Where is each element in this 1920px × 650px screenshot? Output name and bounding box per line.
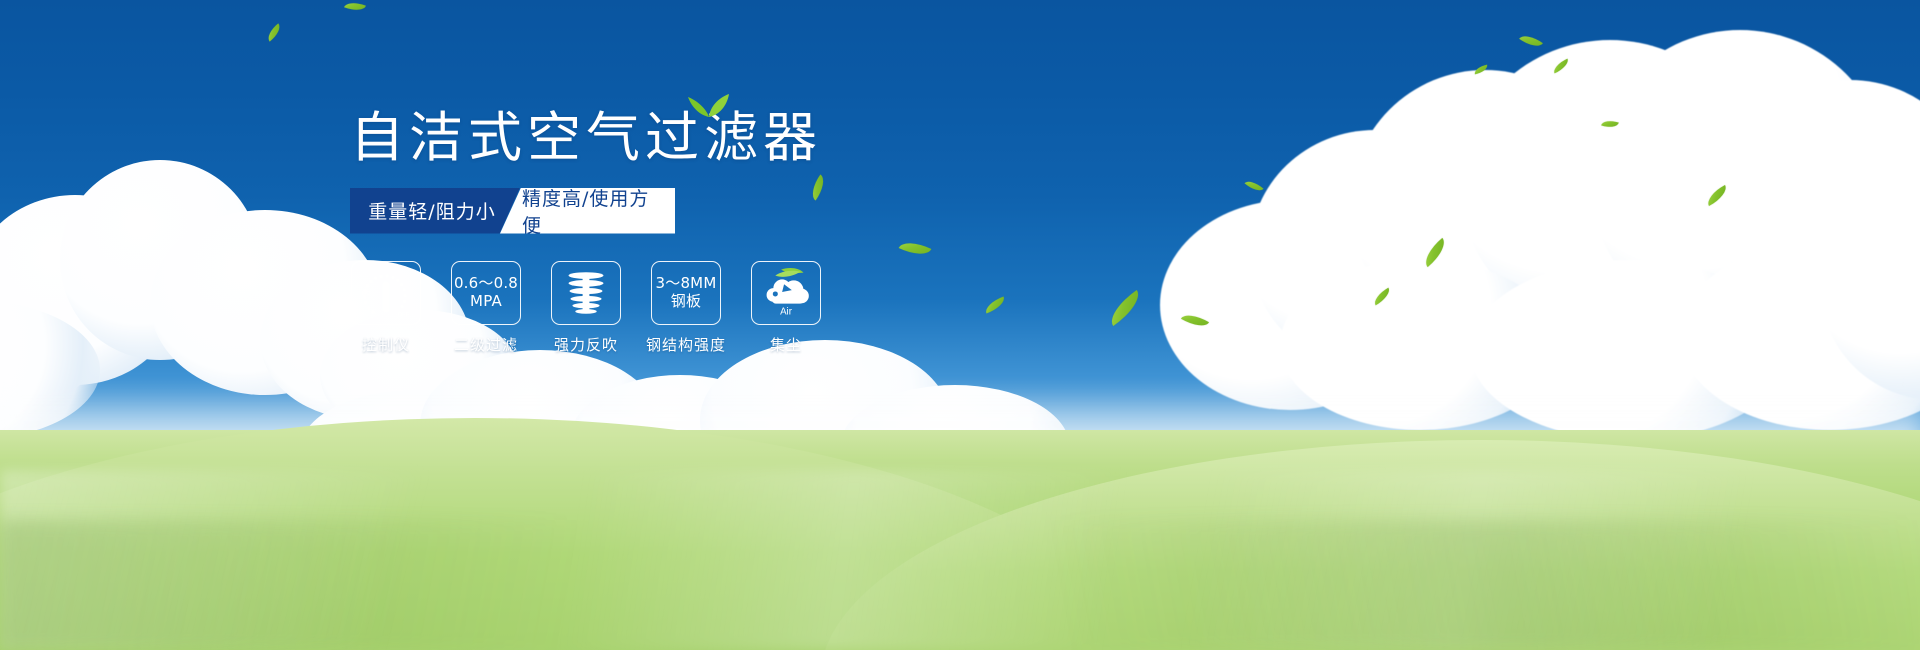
- feature-badge-group: 重量轻/阻力小 精度高/使用方便: [350, 188, 675, 234]
- feature-label-steel-strength: 钢结构强度: [646, 334, 726, 355]
- feature-icon-row: NO OFF 控制仪 0.6～0.8 MPA 二级过滤: [350, 261, 1110, 355]
- banner-content: 自洁式空气过滤器 重量轻/阻力小 精度高/使用方便: [350, 104, 1110, 355]
- pressure-text-icon: 0.6～0.8 MPA: [454, 275, 518, 310]
- feature-box-backblow: [551, 261, 621, 325]
- floating-leaf-icon: [1601, 118, 1619, 131]
- horizon-haze: [0, 390, 1920, 500]
- feature-box-controller: NO OFF: [351, 261, 421, 325]
- dial-off-mark: OFF: [398, 312, 410, 318]
- cloud-bank-right: [1120, 30, 1920, 430]
- cloud-bank-horizon: [300, 330, 1060, 510]
- floating-leaf-icon: [264, 23, 284, 41]
- feature-item-secondary-filtration[interactable]: 0.6～0.8 MPA 二级过滤: [450, 261, 522, 355]
- floating-leaf-icon: [1419, 238, 1450, 267]
- feature-item-backblow[interactable]: 强力反吹: [550, 261, 622, 355]
- hill-right: [820, 440, 1920, 650]
- dial-gauge-icon: NO OFF: [352, 261, 420, 325]
- feature-label-controller: 控制仪: [362, 334, 410, 355]
- floating-leaf-icon: [344, 0, 366, 14]
- floating-leaf-icon: [1473, 65, 1488, 75]
- feature-label-dust-collection: 集尘: [770, 334, 802, 355]
- feature-label-backblow: 强力反吹: [554, 334, 618, 355]
- cloud-air-label: Air: [780, 306, 793, 317]
- title-decorative-leaf-icon: [686, 88, 732, 118]
- floating-leaf-icon: [1104, 290, 1146, 326]
- floating-leaf-icon: [1181, 309, 1209, 332]
- product-hero-banner: 自洁式空气过滤器 重量轻/阻力小 精度高/使用方便: [0, 0, 1920, 650]
- floating-leaf-icon: [1245, 177, 1264, 195]
- meadow-ground: [0, 430, 1920, 650]
- floating-leaf-icon: [1371, 288, 1393, 306]
- feature-box-secondary-filtration: 0.6～0.8 MPA: [451, 261, 521, 325]
- badge-precision-convenience[interactable]: 精度高/使用方便: [500, 188, 675, 234]
- steel-plate-text-icon: 3～8MM 钢板: [656, 275, 717, 310]
- feature-box-dust-collection: Air: [751, 261, 821, 325]
- hill-left: [0, 418, 1150, 650]
- feature-item-steel-strength[interactable]: 3～8MM 钢板 钢结构强度: [650, 261, 722, 355]
- grass-shadow: [0, 520, 1920, 650]
- dial-on-mark: NO: [362, 290, 371, 296]
- feature-box-steel-strength: 3～8MM 钢板: [651, 261, 721, 325]
- cloud-air-icon: Air: [752, 261, 820, 325]
- feature-label-secondary-filtration: 二级过滤: [454, 334, 518, 355]
- floating-leaf-icon: [1551, 59, 1571, 74]
- feature-item-dust-collection[interactable]: Air 集尘: [750, 261, 822, 355]
- floating-leaf-icon: [1704, 185, 1730, 206]
- badge-weight-resistance[interactable]: 重量轻/阻力小: [350, 188, 520, 234]
- grass-highlight: [0, 470, 1920, 650]
- feature-item-controller[interactable]: NO OFF 控制仪: [350, 261, 422, 355]
- floating-leaf-icon: [1519, 31, 1543, 52]
- filter-cartridge-icon: [552, 261, 620, 325]
